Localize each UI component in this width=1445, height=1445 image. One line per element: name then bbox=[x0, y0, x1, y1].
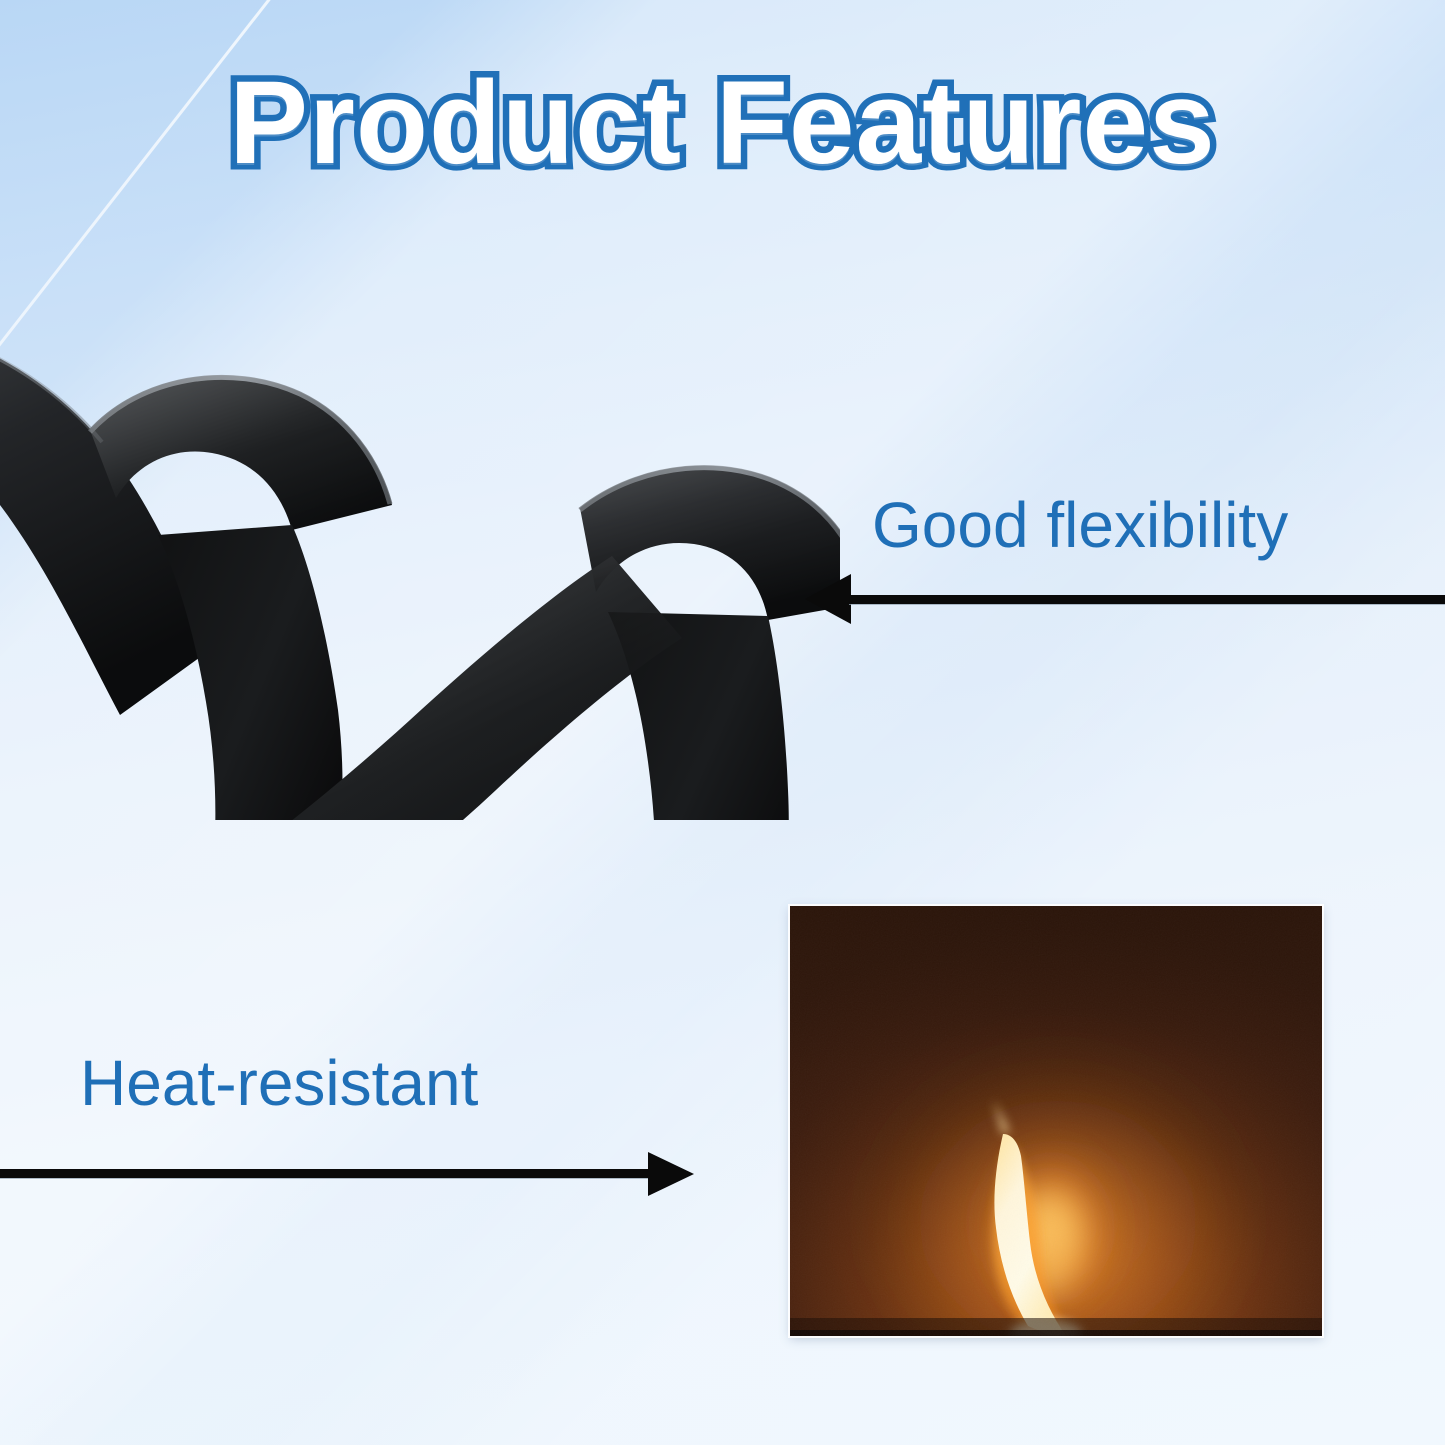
arrow-pointing-to-rubber-strip bbox=[805, 566, 1445, 632]
product-features-infographic: Product Features bbox=[0, 0, 1445, 1445]
arrow-head-right-icon bbox=[648, 1152, 694, 1196]
feature-label-flexibility: Good flexibility bbox=[872, 488, 1288, 562]
arrow-pointing-to-flame-photo bbox=[0, 1152, 694, 1218]
flame-photo-image bbox=[790, 906, 1322, 1336]
rubber-strip-image bbox=[0, 320, 840, 820]
arrow-head-left-icon bbox=[805, 574, 851, 624]
arrow-shaft bbox=[0, 1169, 652, 1178]
page-title: Product Features bbox=[0, 62, 1445, 186]
feature-label-heat-resistant: Heat-resistant bbox=[80, 1046, 478, 1120]
arrow-shaft bbox=[849, 595, 1445, 604]
